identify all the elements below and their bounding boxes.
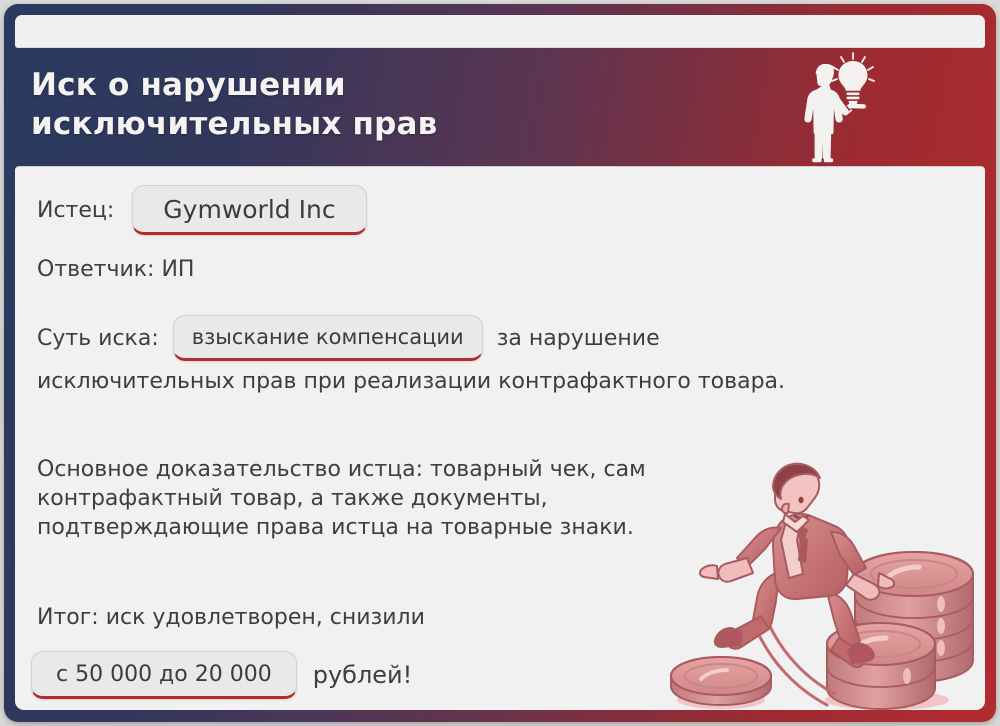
businessman-jumping-over-coin-stacks-illustration [649,448,985,710]
defendant-label: Ответчик: ИП [37,257,194,282]
businessman-with-lightbulb-icon [791,52,875,164]
top-light-strip [15,15,985,48]
plaintiff-label: Истец: [37,198,114,223]
amount-row: с 50 000 до 20 000 рублей! [31,651,412,699]
plaintiff-value-chip[interactable]: Gymworld Inc [132,185,366,235]
claim-label: Суть иска: [37,326,159,351]
amount-currency-label: рублей! [313,661,413,689]
result-label: Итог: иск удовлетворен, снизили [37,605,425,630]
plaintiff-row: Истец: Gymworld Inc [37,185,367,235]
claim-row: Суть иска: взыскание компенсации за нару… [37,315,660,361]
amount-chip[interactable]: с 50 000 до 20 000 [31,651,297,699]
header-band: Иск о нарушении исключительных прав [4,48,996,166]
claim-after-tag-text: за нарушение [497,326,660,351]
claim-tag-chip[interactable]: взыскание компенсации [173,315,483,361]
content-panel: Истец: Gymworld Inc Ответчик: ИП Суть ис… [15,166,985,710]
defendant-row: Ответчик: ИП [37,257,194,282]
claim-continuation-text: исключительных прав при реализации контр… [37,367,827,396]
result-row: Итог: иск удовлетворен, снизили [37,605,425,630]
page-title: Иск о нарушении исключительных прав [31,66,731,144]
evidence-paragraph: Основное доказательство истца: товарный … [37,455,647,542]
infographic-card: Иск о нарушении исключительных прав [4,4,996,722]
